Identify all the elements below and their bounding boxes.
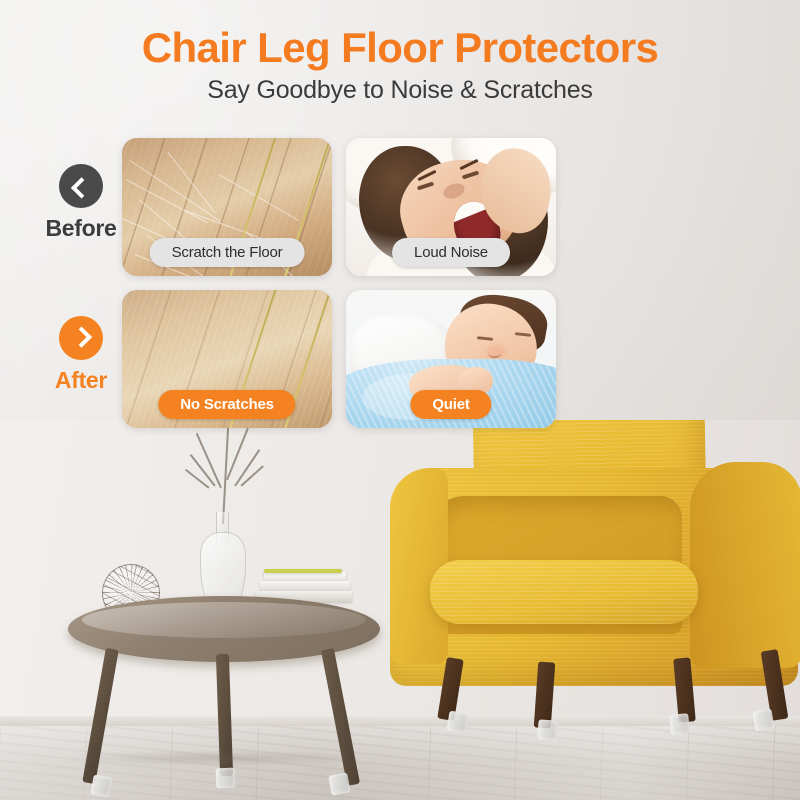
page-title: Chair Leg Floor Protectors [0,26,800,70]
badge-quiet[interactable]: Quiet [410,390,491,419]
after-panels: No Scratches [122,290,556,428]
clear-silicone-leg-cap [328,772,350,795]
panel-scratched-floor[interactable]: Scratch the Floor [122,138,332,276]
clear-silicone-leg-cap [447,711,469,734]
clear-silicone-leg-cap [753,709,775,732]
comparison-row-before: Before [40,138,600,276]
mustard-yellow-armchair [390,420,800,730]
round-wooden-side-table [68,516,380,784]
badge-no-scratches[interactable]: No Scratches [158,390,295,419]
clear-silicone-leg-cap [216,768,236,789]
comparison-row-after: After No Scratches [40,290,600,428]
before-label-group: Before [40,138,122,242]
table-shadow [70,750,370,766]
before-panels: Scratch the Floor [122,138,556,276]
panel-no-scratches[interactable]: No Scratches [122,290,332,428]
stack-of-books [264,569,342,573]
panel-loud-noise[interactable]: Loud Noise [346,138,556,276]
stack-of-books [264,572,346,581]
header: Chair Leg Floor Protectors Say Goodbye t… [0,26,800,105]
badge-scratch-the-floor[interactable]: Scratch the Floor [150,238,305,267]
before-label: Before [45,215,116,242]
living-room-photo [0,420,800,800]
clear-silicone-leg-cap [90,775,112,798]
panel-quiet[interactable]: Quiet [346,290,556,428]
after-label-group: After [40,290,122,394]
after-label: After [55,367,107,394]
stack-of-books [260,581,350,591]
clear-silicone-leg-cap [537,719,557,740]
clear-silicone-leg-cap [669,713,690,735]
chevron-left-icon [59,164,103,208]
chevron-right-icon [59,316,103,360]
before-after-comparison: Before [40,138,600,428]
page-subtitle: Say Goodbye to Noise & Scratches [0,76,800,105]
product-infographic: Chair Leg Floor Protectors Say Goodbye t… [0,0,800,800]
badge-loud-noise[interactable]: Loud Noise [392,238,510,267]
